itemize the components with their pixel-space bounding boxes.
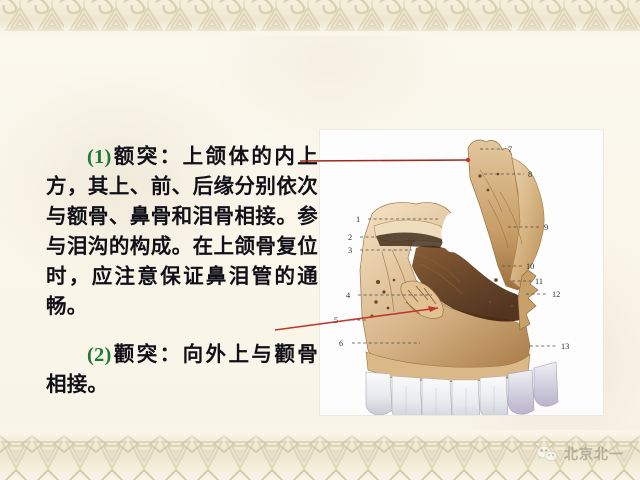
figure-label-11: 11: [535, 277, 543, 286]
figure-label-10: 10: [526, 262, 534, 271]
figure-label-5: 5: [334, 316, 338, 325]
bottom-border-fade: [0, 430, 640, 442]
paragraph-2: (2)颧突：向外上与颧骨相接。: [46, 340, 318, 400]
figure-label-7: 7: [508, 145, 512, 154]
body-text-column: (1)额突：上颌体的内上方，其上、前、后缘分别依次与额骨、鼻骨和泪骨相接。参与泪…: [46, 142, 318, 404]
figure-label-13: 13: [561, 342, 569, 351]
figure-label-8: 8: [528, 170, 532, 179]
top-border-fade: [0, 24, 640, 36]
figure-label-12: 12: [552, 290, 560, 299]
paragraph-2-marker: (2): [87, 344, 112, 366]
paragraph-1: (1)额突：上颌体的内上方，其上、前、后缘分别依次与额骨、鼻骨和泪骨相接。参与泪…: [46, 142, 318, 322]
figure-label-3: 3: [348, 246, 352, 255]
slide-canvas: (1)额突：上颌体的内上方，其上、前、后缘分别依次与额骨、鼻骨和泪骨相接。参与泪…: [0, 0, 640, 480]
top-decorative-border: [0, 0, 640, 36]
watermark: 北京北一: [536, 444, 624, 464]
watermark-text: 北京北一: [564, 444, 624, 464]
maxilla-illustration: 1 2 3 4 5 6 7 8 9 10 11 12 13: [320, 130, 603, 415]
paragraph-1-text: 额突：上颌体的内上方，其上、前、后缘分别依次与额骨、鼻骨和泪骨相接。参与泪沟的构…: [46, 146, 318, 318]
figure-label-1: 1: [356, 215, 360, 224]
paragraph-1-marker: (1): [87, 146, 112, 168]
figure-label-2: 2: [348, 233, 352, 242]
wechat-icon: [536, 445, 558, 463]
figure-label-6: 6: [339, 339, 343, 348]
figure-label-9: 9: [544, 223, 548, 232]
anatomy-figure-panel: 1 2 3 4 5 6 7 8 9 10 11 12 13: [320, 130, 603, 415]
